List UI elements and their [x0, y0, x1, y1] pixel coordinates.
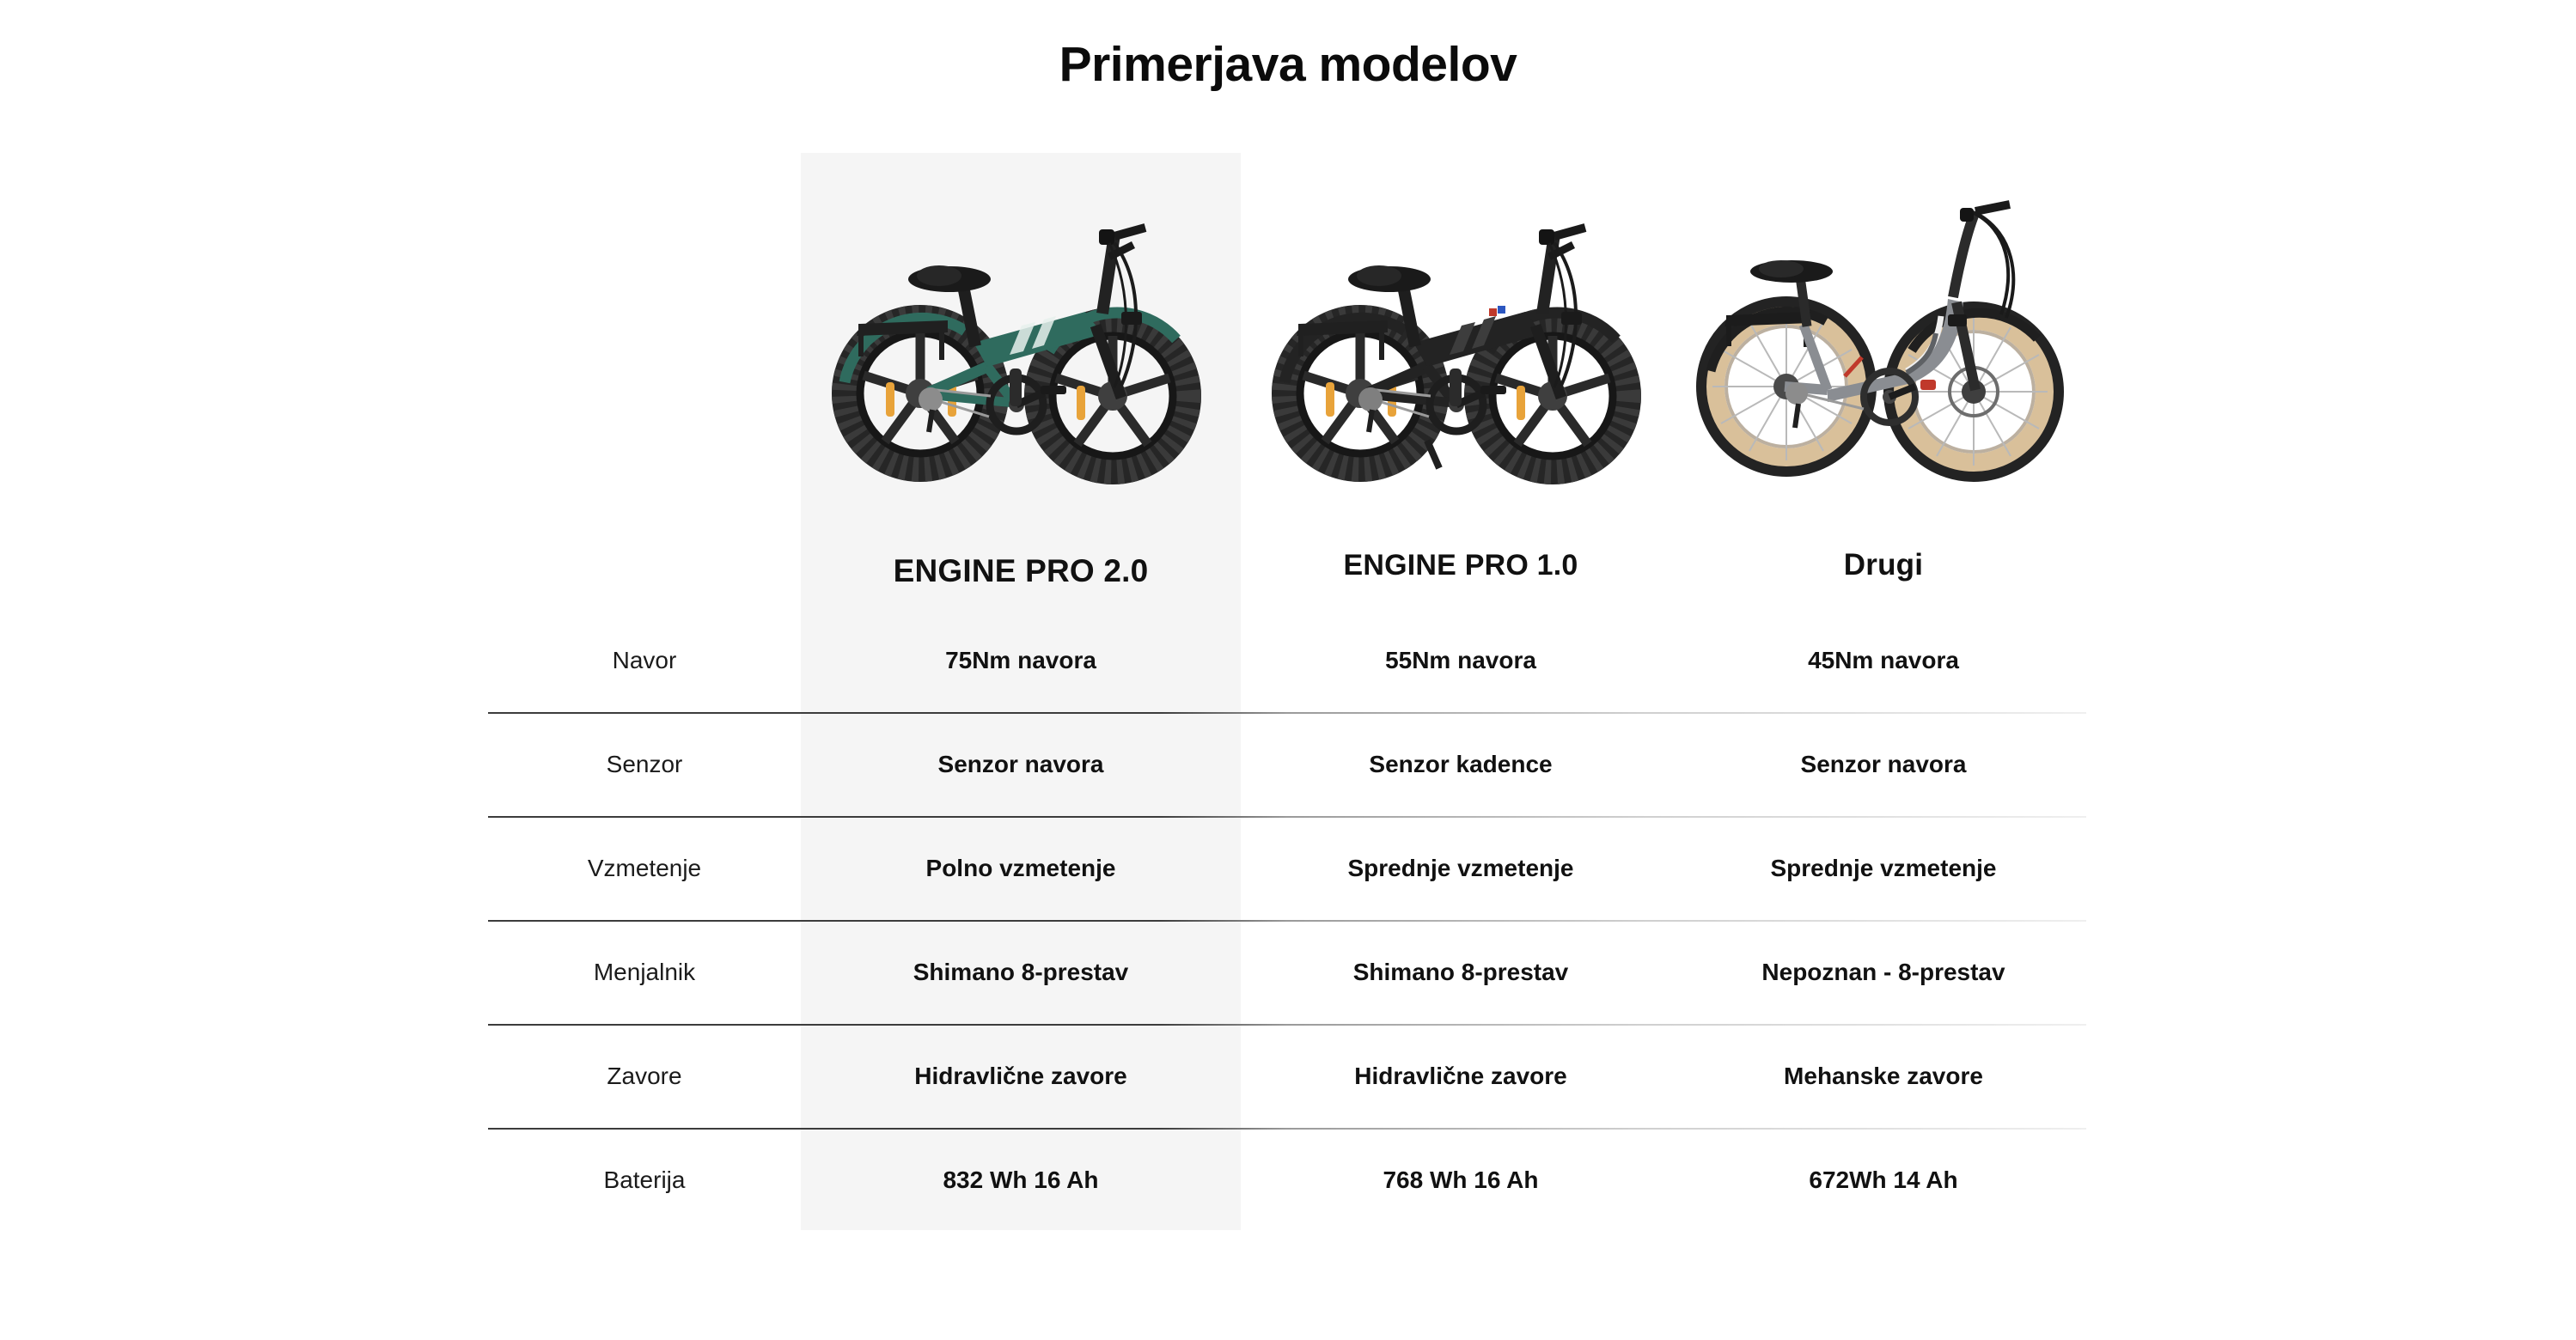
bike-image-black [1241, 153, 1681, 522]
row-divider-3 [488, 920, 2086, 922]
image-row-spacer [488, 153, 801, 522]
product-image-cell-1[interactable] [1241, 153, 1681, 522]
ebike-folding-fat-tire-black-icon [1259, 183, 1663, 492]
spec-value-4-2: Mehanske zavore [1681, 1024, 2086, 1128]
product-image-cell-2[interactable] [1681, 153, 2086, 522]
spec-value-2-2: Sprednje vzmetenje [1681, 816, 2086, 920]
comparison-table: ENGINE PRO 2.0 ENGINE PRO 1.0 Drugi Navo… [488, 153, 2086, 1235]
spec-value-1-1: Senzor kadence [1241, 712, 1681, 816]
spec-value-5-1: 768 Wh 16 Ah [1241, 1128, 1681, 1232]
ebike-step-through-fat-tire-grey-icon [1690, 187, 2077, 488]
ebike-folding-fat-tire-green-icon [819, 183, 1223, 492]
spec-value-4-1: Hidravlične zavore [1241, 1024, 1681, 1128]
spec-label-5: Baterija [488, 1128, 801, 1232]
page-title: Primerjava modelov [0, 36, 2576, 93]
spec-value-2-1: Sprednje vzmetenje [1241, 816, 1681, 920]
spec-value-3-0: Shimano 8-prestav [801, 920, 1241, 1024]
bike-image-grey [1681, 153, 2086, 522]
row-divider-4 [488, 1024, 2086, 1026]
spec-label-2: Vzmetenje [488, 816, 801, 920]
product-name-cell-1[interactable]: ENGINE PRO 1.0 [1241, 522, 1681, 608]
spec-value-0-1: 55Nm navora [1241, 608, 1681, 712]
comparison-grid: ENGINE PRO 2.0 ENGINE PRO 1.0 Drugi Navo… [488, 153, 2086, 1232]
product-name-2: Drugi [1844, 548, 1923, 582]
spec-value-0-2: 45Nm navora [1681, 608, 2086, 712]
spec-label-3: Menjalnik [488, 920, 801, 1024]
row-divider-5 [488, 1128, 2086, 1130]
product-name-cell-2[interactable]: Drugi [1681, 522, 2086, 608]
spec-value-1-0: Senzor navora [801, 712, 1241, 816]
spec-value-0-0: 75Nm navora [801, 608, 1241, 712]
spec-value-5-2: 672Wh 14 Ah [1681, 1128, 2086, 1232]
product-name-1: ENGINE PRO 1.0 [1344, 549, 1578, 582]
spec-value-1-2: Senzor navora [1681, 712, 2086, 816]
bike-image-green [801, 153, 1241, 522]
product-name-cell-0[interactable]: ENGINE PRO 2.0 [801, 522, 1241, 608]
product-image-cell-0[interactable] [801, 153, 1241, 522]
row-divider-1 [488, 712, 2086, 714]
spec-value-2-0: Polno vzmetenje [801, 816, 1241, 920]
spec-value-5-0: 832 Wh 16 Ah [801, 1128, 1241, 1232]
spec-value-4-0: Hidravlične zavore [801, 1024, 1241, 1128]
name-row-spacer [488, 522, 801, 608]
spec-label-1: Senzor [488, 712, 801, 816]
product-name-0: ENGINE PRO 2.0 [894, 541, 1149, 589]
spec-label-4: Zavore [488, 1024, 801, 1128]
row-divider-2 [488, 816, 2086, 818]
spec-value-3-1: Shimano 8-prestav [1241, 920, 1681, 1024]
spec-value-3-2: Nepoznan - 8-prestav [1681, 920, 2086, 1024]
spec-label-0: Navor [488, 608, 801, 712]
